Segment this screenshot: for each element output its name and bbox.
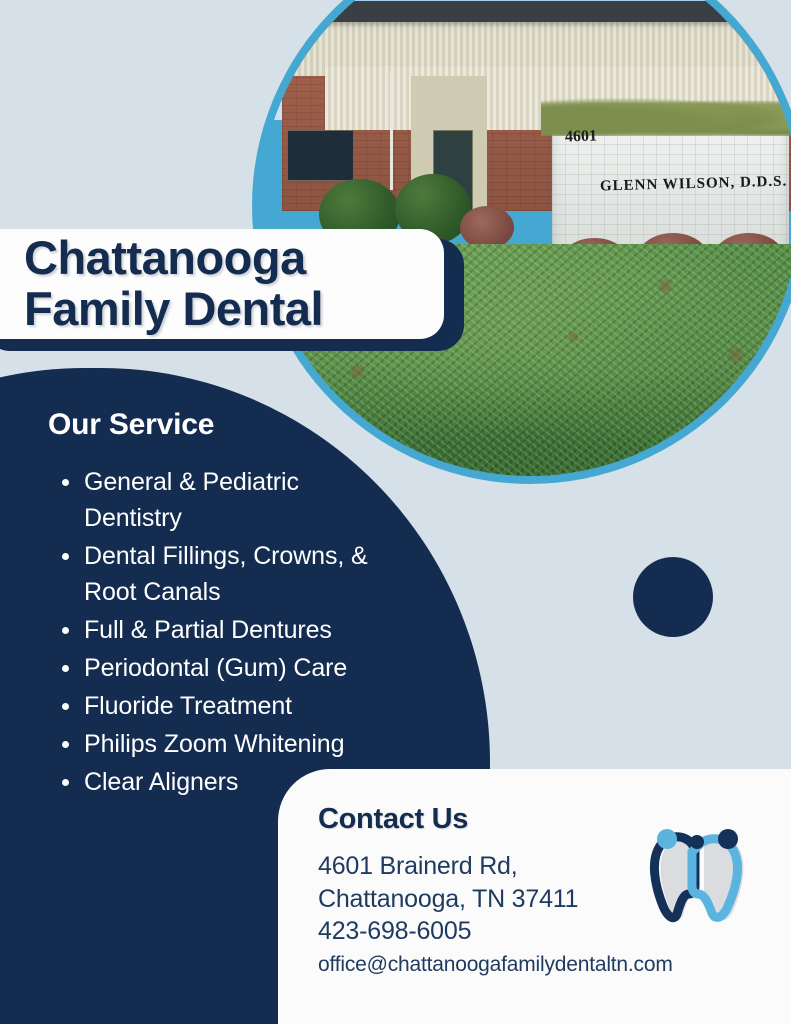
logo-head-lightblue-left	[657, 829, 677, 849]
title-banner-card: Chattanooga Family Dental	[0, 229, 444, 339]
navy-accent-dot	[633, 557, 713, 637]
tooth-logo-icon	[645, 826, 757, 934]
service-item: Full & Partial Dentures	[84, 612, 398, 648]
photo-red-shrub	[460, 206, 514, 249]
tooth-family-logo	[645, 826, 757, 934]
title-line-2: Family Dental	[24, 284, 444, 335]
dental-flyer-poster: 4601 GLENN WILSON, D.D.S. Chattanooga	[0, 0, 791, 1024]
service-item: Philips Zoom Whitening	[84, 726, 398, 762]
title-line-1: Chattanooga	[24, 233, 444, 284]
service-item: Fluoride Treatment	[84, 688, 398, 724]
services-heading: Our Service	[48, 408, 398, 442]
photo-sign-street-number: 4601	[565, 127, 598, 146]
services-list: General & Pediatric Dentistry Dental Fil…	[48, 464, 398, 800]
photo-window	[287, 130, 354, 181]
title-banner: Chattanooga Family Dental	[0, 229, 464, 351]
logo-head-navy-right	[718, 829, 738, 849]
photo-downspout	[390, 71, 394, 190]
contact-email[interactable]: office@chattanoogafamilydentaltn.com	[318, 951, 791, 978]
services-section: Our Service General & Pediatric Dentistr…	[48, 408, 398, 802]
logo-head-navy-center	[690, 835, 704, 849]
service-item: Periodontal (Gum) Care	[84, 650, 398, 686]
service-item: General & Pediatric Dentistry	[84, 464, 398, 536]
service-item: Dental Fillings, Crowns, & Root Canals	[84, 538, 398, 610]
